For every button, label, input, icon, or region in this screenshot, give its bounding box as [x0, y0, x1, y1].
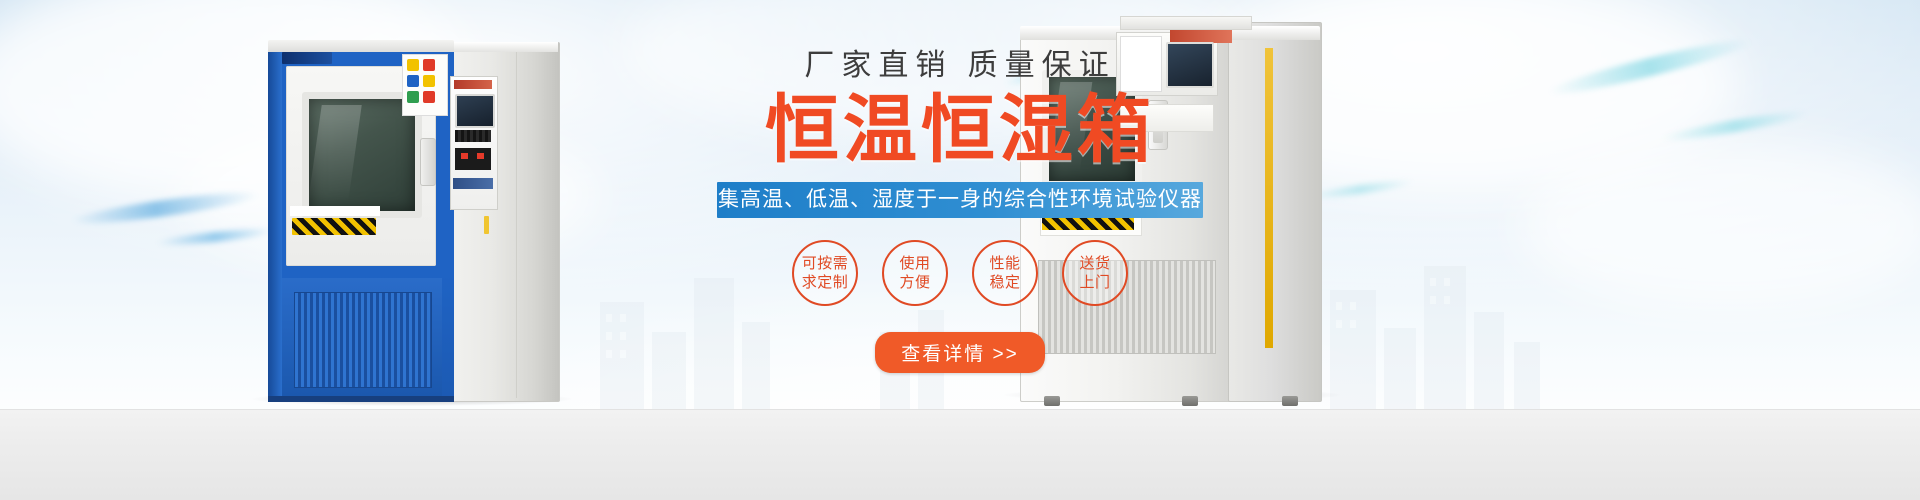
product-name-plate [454, 80, 492, 89]
promo-banner: 厂家直销 质量保证 恒温恒湿箱 集高温、低温、湿度于一身的综合性环境试验仪器 可… [0, 0, 1920, 500]
feature-badge-group: 可按需 求定制 使用 方便 性能 稳定 送货 上门 [700, 240, 1220, 306]
feature-badge-line2: 上门 [1079, 273, 1110, 292]
door-handle-icon [420, 138, 436, 186]
feature-badge-line1: 可按需 [802, 254, 849, 273]
view-details-button[interactable]: 查看详情 >> [875, 332, 1044, 373]
banner-copy-block: 厂家直销 质量保证 恒温恒湿箱 集高温、低温、湿度于一身的综合性环境试验仪器 可… [700, 46, 1220, 373]
ventilation-grille [294, 292, 432, 388]
feature-badge-stable[interactable]: 性能 稳定 [972, 240, 1038, 306]
feature-badge-line1: 使用 [899, 254, 930, 273]
feature-badge-line1: 送货 [1079, 254, 1110, 273]
tagline: 厂家直销 质量保证 [700, 46, 1220, 86]
feature-badge-delivery[interactable]: 送货 上门 [1062, 240, 1128, 306]
indicator-lights [455, 130, 491, 142]
controller-display [455, 94, 495, 128]
machine-foot [1044, 396, 1060, 406]
feature-badge-line1: 性能 [989, 254, 1020, 273]
brand-logo [282, 52, 332, 64]
feature-badge-line2: 稳定 [989, 273, 1020, 292]
feature-badge-easy-use[interactable]: 使用 方便 [882, 240, 948, 306]
page-title: 恒温恒湿箱 [700, 88, 1220, 172]
machine-foot [1182, 396, 1198, 406]
product-image-left [268, 30, 558, 400]
hazard-stripe-icon [292, 218, 376, 235]
subtitle-bar: 集高温、低温、湿度于一身的综合性环境试验仪器 [717, 182, 1203, 218]
side-accent-stripe [1265, 48, 1273, 348]
warning-sticker-cluster [402, 54, 448, 116]
machine-foot [1282, 396, 1298, 406]
feature-badge-line2: 方便 [899, 273, 930, 292]
cta-container: 查看详情 >> [700, 332, 1220, 373]
feature-badge-custom[interactable]: 可按需 求定制 [792, 240, 858, 306]
feature-badge-line2: 求定制 [802, 273, 849, 292]
door-latch-icon [484, 216, 489, 234]
spec-plate [453, 178, 493, 189]
control-buttons [455, 148, 491, 170]
ground-strip [0, 409, 1920, 500]
